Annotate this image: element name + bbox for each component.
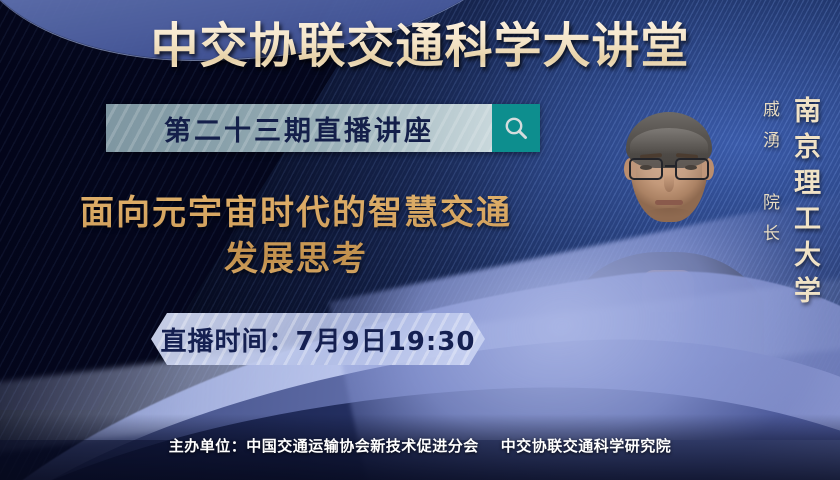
search-icon[interactable] (492, 104, 540, 152)
footer-organizer-1: 中国交通运输协会新技术促进分会 (246, 437, 479, 455)
lecture-title-line-1: 面向元宇宙时代的智慧交通 (80, 193, 512, 233)
episode-label: 第二十三期直播讲座 (164, 109, 434, 148)
speaker-chin-shadow (642, 208, 696, 224)
footer-organizer-label: 主办单位： (169, 437, 247, 455)
speaker-university: 南京理工大学 (785, 96, 824, 312)
livestream-poster: 中交协联交通科学大讲堂 第二十三期直播讲座 面向元宇宙时代的智慧交通 发展思考 … (0, 0, 840, 480)
lecture-title: 面向元宇宙时代的智慧交通 发展思考 (36, 190, 556, 282)
footer-organizer-2: 中交协联交通科学研究院 (501, 437, 672, 455)
page-title: 中交协联交通科学大讲堂 (0, 16, 840, 76)
lecture-title-line-2: 发展思考 (36, 236, 556, 282)
glasses-lens-right (675, 158, 709, 180)
broadcast-time-label: 直播时间：7月9日19:30 (161, 321, 476, 358)
speaker-name-title: 戚湧 院长 (757, 100, 782, 255)
speaker-nose (664, 174, 674, 192)
episode-banner[interactable]: 第二十三期直播讲座 (106, 104, 540, 152)
broadcast-time-chip: 直播时间：7月9日19:30 (151, 313, 485, 365)
glasses-bridge (665, 165, 675, 167)
glasses-lens-left (629, 158, 663, 180)
episode-banner-bar: 第二十三期直播讲座 (106, 104, 492, 152)
speaker-mouth (655, 200, 683, 205)
footer-organizers: 主办单位：中国交通运输协会新技术促进分会中交协联交通科学研究院 (0, 435, 840, 456)
